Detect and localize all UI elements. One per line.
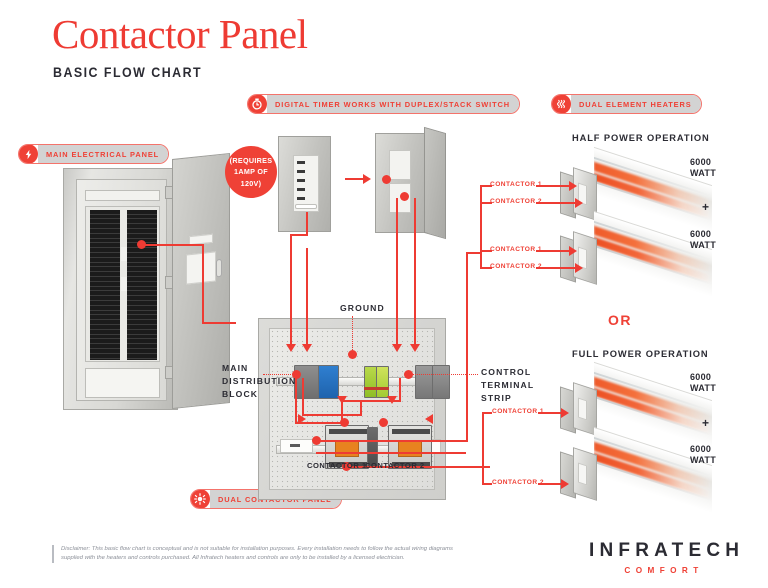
heater-full-2: [560, 448, 710, 504]
watt-value: 6000: [690, 229, 711, 239]
heater-half-1: [560, 168, 710, 224]
badge-digital-timer-label: DIGITAL TIMER WORKS WITH DUPLEX/STACK SW…: [267, 95, 519, 113]
timer-icon: [247, 94, 267, 114]
watt-label-half-2: 6000 WATT: [690, 229, 716, 251]
watt-label-full-1: 6000 WATT: [690, 372, 716, 394]
switch-box-side: [424, 127, 446, 239]
distribution-block-blue: [318, 365, 339, 399]
tag-full-1-contactor-1: CONTACTOR 1: [492, 408, 544, 415]
label-main-distribution-block: MAIN DISTRIBUTION BLOCK: [222, 362, 296, 401]
gear-icon: [190, 489, 210, 509]
flow-chart-canvas: Contactor Panel BASIC FLOW CHART MAIN EL…: [0, 0, 768, 588]
half-power-plus: +: [702, 200, 709, 214]
watt-value: 6000: [690, 372, 711, 382]
logo-wordmark: INFRATECH: [589, 540, 744, 562]
label-or-divider: OR: [608, 312, 632, 328]
label-contactor-2: CONTACTOR 2: [365, 461, 425, 470]
breaker-column-right: [127, 210, 157, 360]
watt-unit: WATT: [690, 383, 716, 393]
heater-full-1: [560, 383, 710, 439]
logo-tagline: COMFORT: [589, 566, 739, 575]
full-power-plus: +: [702, 416, 709, 430]
tag-half-1-contactor-2: CONTACTOR 2: [490, 198, 542, 205]
label-ground: GROUND: [340, 303, 385, 313]
label-contactor-1: CONTACTOR 1: [307, 461, 367, 470]
watt-unit: WATT: [690, 240, 716, 250]
page-subtitle: BASIC FLOW CHART: [53, 65, 202, 80]
badge-dual-element-heaters-label: DUAL ELEMENT HEATERS: [571, 95, 701, 113]
note-line-2: 1AMP OF: [234, 166, 268, 177]
badge-main-electrical-panel-label: MAIN ELECTRICAL PANEL: [38, 145, 168, 163]
arrow-timer-to-switch: [345, 178, 364, 180]
disclaimer-text: Disclaimer: This basic flow chart is con…: [52, 545, 472, 563]
arrow-timer-to-switch-head: [363, 174, 371, 184]
ground-block-b: [376, 366, 389, 398]
note-line-3: 120V): [241, 178, 262, 189]
watt-label-full-2: 6000 WATT: [690, 444, 716, 466]
label-half-power-operation: HALF POWER OPERATION: [572, 133, 710, 143]
heat-waves-icon: [551, 94, 571, 114]
tag-half-1-contactor-1: CONTACTOR 1: [490, 181, 542, 188]
note-line-1: (REQUIRES: [230, 155, 273, 166]
watt-unit: WATT: [690, 168, 716, 178]
tag-full-2-contactor-2: CONTACTOR 2: [492, 479, 544, 486]
label-control-terminal-strip: CONTROL TERMINAL STRIP: [481, 366, 534, 405]
badge-digital-timer: DIGITAL TIMER WORKS WITH DUPLEX/STACK SW…: [247, 94, 520, 114]
infratech-logo: INFRATECH COMFORT: [589, 540, 739, 575]
breaker-column-left: [90, 210, 120, 360]
badge-dual-element-heaters: DUAL ELEMENT HEATERS: [551, 94, 702, 114]
badge-main-electrical-panel: MAIN ELECTRICAL PANEL: [18, 144, 169, 164]
watt-value: 6000: [690, 444, 711, 454]
ground-dotted-line: [352, 316, 353, 354]
heater-half-2: [560, 232, 710, 288]
control-terminal-strip-a: [415, 365, 433, 399]
digital-timer-device: [278, 136, 331, 232]
label-full-power-operation: FULL POWER OPERATION: [572, 349, 708, 359]
lightning-bolt-icon: [18, 144, 38, 164]
tag-half-2-contactor-1: CONTACTOR 1: [490, 246, 542, 253]
page-title: Contactor Panel: [52, 14, 308, 55]
watt-value: 6000: [690, 157, 711, 167]
tag-half-2-contactor-2: CONTACTOR 2: [490, 263, 542, 270]
watt-unit: WATT: [690, 455, 716, 465]
watt-label-half-1: 6000 WATT: [690, 157, 716, 179]
control-terminal-strip-b: [432, 365, 450, 399]
note-power-requirement: (REQUIRES 1AMP OF 120V): [225, 146, 277, 198]
